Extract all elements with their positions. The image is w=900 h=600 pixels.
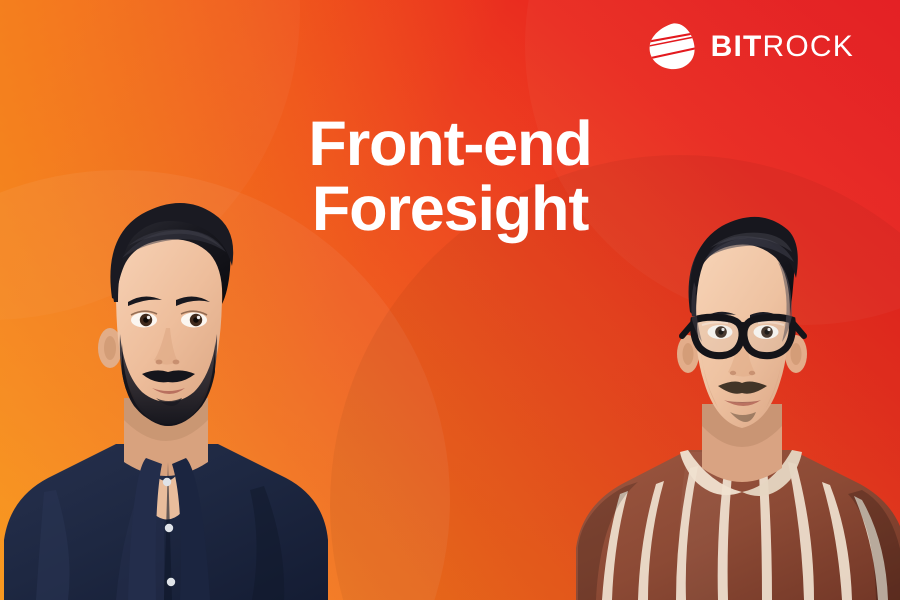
person-right-photo	[576, 150, 900, 600]
wordmark-rock: ROCK	[763, 32, 854, 62]
bitrock-blob-mark	[648, 22, 698, 72]
shirt-button	[167, 578, 175, 586]
bitrock-logo[interactable]: BIT ROCK	[648, 22, 854, 72]
bitrock-wordmark: BIT ROCK	[711, 32, 854, 62]
wordmark-bit: BIT	[711, 32, 763, 62]
banner-canvas: Front-end Foresight BIT ROCK	[0, 0, 900, 600]
shirt-button	[165, 524, 173, 532]
person-left-photo	[0, 130, 336, 600]
shirt-button	[163, 478, 171, 486]
